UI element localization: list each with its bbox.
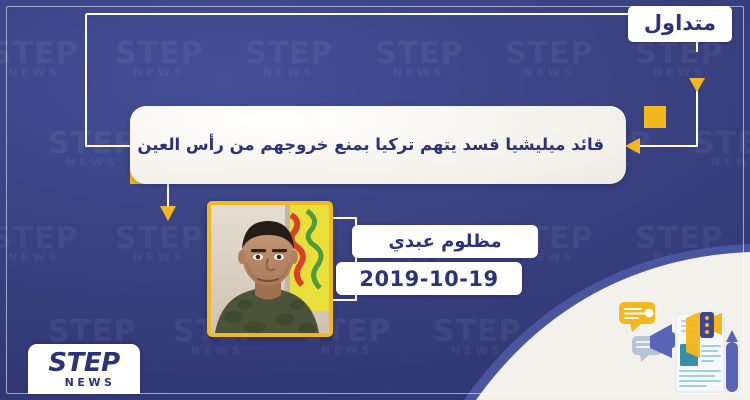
watermark-step-news: STEPNEWS [693, 130, 750, 168]
watermark-step-news: STEPNEWS [0, 225, 79, 263]
subject-name: مظلوم عبدي [388, 231, 501, 252]
status-badge-label: متداول [644, 11, 716, 35]
logo-wordmark: STEP [48, 350, 119, 376]
megaphone-newspaper-illustration [614, 288, 746, 398]
watermark-step-news: STEPNEWS [375, 40, 464, 78]
headline-text: قائد ميليشيا قسد يتهم تركيا بمنع خروجهم … [137, 133, 604, 156]
pen-icon [726, 330, 738, 392]
watermark-step-news: STEPNEWS [245, 40, 334, 78]
watermark-step-news: STEPNEWS [48, 130, 137, 168]
watermark-step-news: STEPNEWS [505, 40, 594, 78]
step-news-logo: STEP NEWS [28, 344, 140, 394]
newspaper-icon [676, 312, 724, 392]
news-card: STEPNEWSSTEPNEWSSTEPNEWSSTEPNEWSSTEPNEWS… [0, 0, 750, 400]
subject-photo [207, 201, 333, 337]
watermark-step-news: STEPNEWS [433, 318, 522, 356]
watermark-step-news: STEPNEWS [115, 225, 204, 263]
watermark-step-news: STEPNEWS [115, 40, 204, 78]
watermark-step-news: STEPNEWS [0, 40, 79, 78]
headline-accent-top-right [644, 106, 666, 128]
speech-bubble-yellow-icon [619, 302, 655, 332]
headline-box: قائد ميليشيا قسد يتهم تركيا بمنع خروجهم … [130, 106, 626, 184]
watermark-step-news: STEPNEWS [635, 40, 724, 78]
status-badge: متداول [628, 6, 732, 42]
logo-subtext: NEWS [65, 377, 116, 388]
watermark-step-news: STEPNEWS [635, 225, 724, 263]
subject-date: 2019-10-19 [359, 267, 498, 291]
subject-date-box: 2019-10-19 [336, 262, 522, 295]
subject-name-box: مظلوم عبدي [352, 225, 538, 258]
